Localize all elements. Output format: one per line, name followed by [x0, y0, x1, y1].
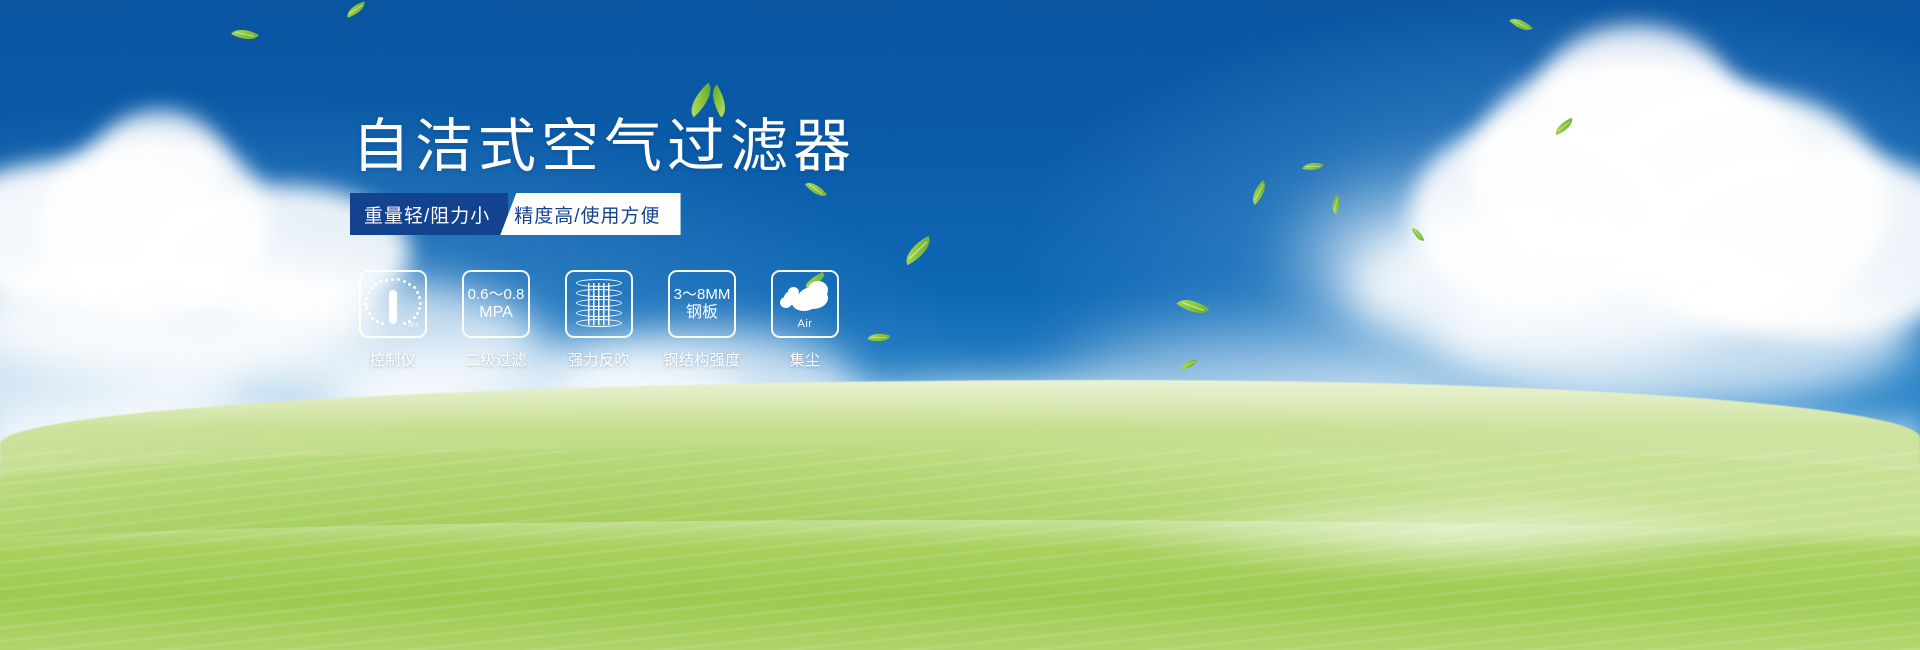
- feature-icon-box: 3～8MM 钢板: [668, 270, 736, 338]
- feature-label: 控制仪: [370, 349, 417, 370]
- feature-item-steel[interactable]: 3～8MM 钢板 钢结构强度: [667, 270, 737, 370]
- gauge-needle: [389, 290, 397, 324]
- feature-icon-row: NO OFF 控制仪 0.6～0.8 MPA 二级过滤: [358, 270, 840, 370]
- cloud-air-icon: Air: [778, 279, 832, 329]
- feature-item-control[interactable]: NO OFF 控制仪: [358, 270, 428, 370]
- feature-item-filtration[interactable]: 0.6～0.8 MPA 二级过滤: [461, 270, 531, 370]
- feature-label: 二级过滤: [465, 349, 527, 370]
- steel-plate-text-icon: 3～8MM 钢板: [674, 286, 731, 322]
- banner-content: 自洁式空气过滤器 重量轻/阻力小 精度高/使用方便: [0, 0, 1920, 650]
- pressure-text-icon: 0.6～0.8 MPA: [468, 286, 525, 322]
- pressure-value: 0.6～0.8: [468, 286, 525, 304]
- pressure-unit: MPA: [468, 304, 525, 322]
- feature-item-blowback[interactable]: 强力反吹: [564, 270, 634, 370]
- badge-group: 重量轻/阻力小 精度高/使用方便: [350, 193, 681, 235]
- coil-blowback-icon: [576, 279, 622, 329]
- feature-icon-box: NO OFF: [359, 270, 427, 338]
- feature-icon-box: 0.6～0.8 MPA: [462, 270, 530, 338]
- banner-title: 自洁式空气过滤器: [352, 118, 856, 176]
- air-label: Air: [778, 318, 832, 330]
- hero-banner: 自洁式空气过滤器 重量轻/阻力小 精度高/使用方便: [0, 0, 1920, 650]
- gauge-label-off: OFF: [408, 323, 419, 329]
- feature-icon-box: Air: [771, 270, 839, 338]
- steel-material: 钢板: [674, 304, 731, 322]
- feature-icon-box: [565, 270, 633, 338]
- feature-label: 强力反吹: [568, 349, 630, 370]
- feature-label: 钢结构强度: [663, 349, 741, 370]
- gauge-icon: NO OFF: [365, 278, 421, 330]
- badge-precision-ease[interactable]: 精度高/使用方便: [500, 193, 680, 235]
- gauge-label-no: NO: [363, 303, 371, 309]
- feature-item-dust[interactable]: Air 集尘: [770, 270, 840, 370]
- steel-thickness: 3～8MM: [674, 286, 731, 304]
- feature-label: 集尘: [789, 349, 820, 370]
- badge-weight-resistance[interactable]: 重量轻/阻力小: [350, 193, 508, 235]
